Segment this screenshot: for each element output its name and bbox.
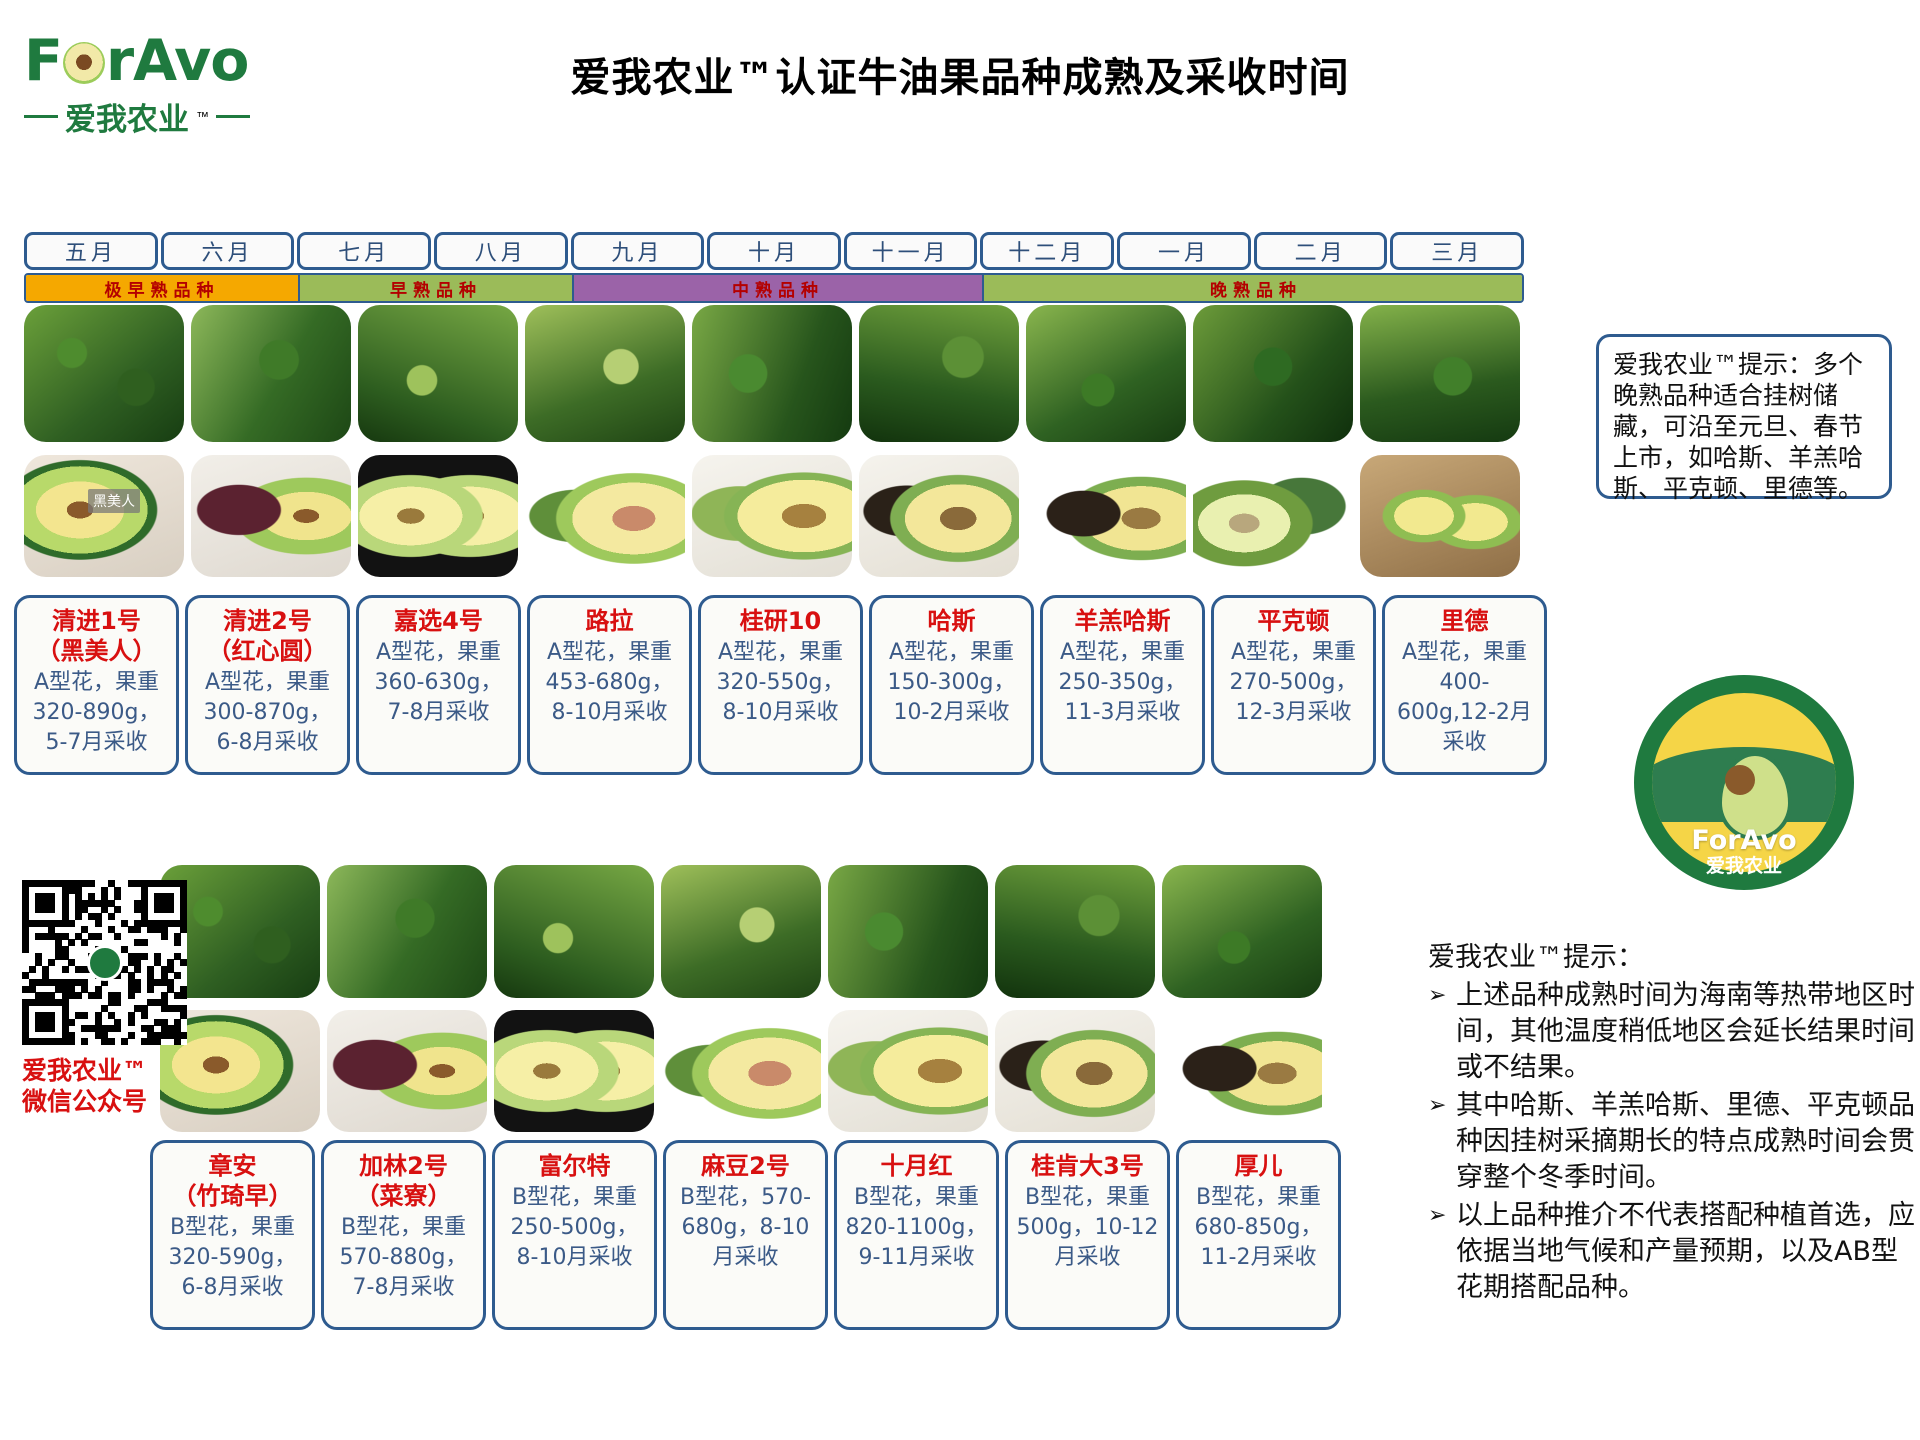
tree-photo-lula xyxy=(525,305,685,442)
tree-photo-hass xyxy=(859,305,1019,442)
qr-caption-line1: 爱我农业™ xyxy=(22,1055,202,1086)
variety-name: 章安 xyxy=(159,1151,306,1181)
variety-name: 富尔特 xyxy=(501,1151,648,1181)
variety-alias: （菜寮） xyxy=(330,1181,477,1211)
variety-card[interactable]: 桂肯大3号B型花，果重500g，10-12月采收 xyxy=(1005,1140,1170,1330)
variety-description: B型花，果重680-850g，11-2月采收 xyxy=(1185,1183,1332,1273)
tree-photo-reed xyxy=(1360,305,1520,442)
qr-code-image xyxy=(22,880,187,1045)
note-text: 上述品种成熟时间为海南等热带地区时间，其他温度稍低地区会延长结果时间或不结果。 xyxy=(1456,978,1920,1086)
variety-card[interactable]: 富尔特B型花，果重250-500g，8-10月采收 xyxy=(492,1140,657,1330)
variety-name: 嘉选4号 xyxy=(365,606,512,636)
variety-card[interactable]: 桂研10A型花，果重320-550g，8-10月采收 xyxy=(698,595,863,775)
variety-name: 路拉 xyxy=(536,606,683,636)
variety-card[interactable]: 厚儿B型花，果重680-850g，11-2月采收 xyxy=(1176,1140,1341,1330)
variety-card[interactable]: 十月红B型花，果重820-1100g，9-11月采收 xyxy=(834,1140,999,1330)
variety-description: A型花，果重300-870g，6-8月采收 xyxy=(194,668,341,758)
variety-name: 清进2号 xyxy=(194,606,341,636)
bullet-arrow-icon: ➢ xyxy=(1428,1198,1450,1306)
badge-cn-text: 爱我农业 xyxy=(1634,851,1854,878)
variety-alias: （竹琦早） xyxy=(159,1181,306,1211)
row2-variety-cards: 章安（竹琦早）B型花，果重320-590g，6-8月采收加林2号（菜寮）B型花，… xyxy=(150,1140,1347,1330)
variety-description: A型花，果重360-630g，7-8月采收 xyxy=(365,638,512,728)
variety-card[interactable]: 加林2号（菜寮）B型花，果重570-880g，7-8月采收 xyxy=(321,1140,486,1330)
fruit-photo-houer xyxy=(1162,1010,1322,1132)
tree-photo-lambhass xyxy=(1026,305,1186,442)
variety-card[interactable]: 里德A型花，果重400-600g,12-2月采收 xyxy=(1382,595,1547,775)
variety-card[interactable]: 平克顿A型花，果重270-500g，12-3月采收 xyxy=(1211,595,1376,775)
fruit-photo-reed xyxy=(1360,455,1520,577)
month-cell-8: 十二月 xyxy=(980,232,1114,270)
season-band-1: 极早熟品种 xyxy=(26,275,300,301)
photo-caption: 黑美人 xyxy=(88,489,140,513)
foravo-round-badge: ForAvo 爱我农业 xyxy=(1634,675,1854,890)
variety-name: 平克顿 xyxy=(1220,606,1367,636)
variety-description: A型花，果重270-500g，12-3月采收 xyxy=(1220,638,1367,728)
fruit-photo-hass xyxy=(859,455,1019,577)
variety-description: A型花，果重453-680g，8-10月采收 xyxy=(536,638,683,728)
variety-alias: （黑美人） xyxy=(23,636,170,666)
variety-name: 厚儿 xyxy=(1185,1151,1332,1181)
fruit-photo-shiyuehong xyxy=(828,1010,988,1132)
wechat-qr-block: 爱我农业™ 微信公众号 xyxy=(22,880,202,1117)
season-band-row: 极早熟品种早熟品种中熟品种晚熟品种 xyxy=(24,273,1524,303)
qr-caption-line2: 微信公众号 xyxy=(22,1086,202,1117)
tree-photo-pinkerton xyxy=(1193,305,1353,442)
row2-tree-photo-strip xyxy=(160,865,1329,998)
variety-name: 羊羔哈斯 xyxy=(1049,606,1196,636)
variety-card[interactable]: 羊羔哈斯A型花，果重250-350g，11-3月采收 xyxy=(1040,595,1205,775)
row1-tree-photo-strip xyxy=(24,305,1527,442)
variety-alias: （红心圆） xyxy=(194,636,341,666)
variety-card[interactable]: 嘉选4号A型花，果重360-630g，7-8月采收 xyxy=(356,595,521,775)
month-cell-9: 一月 xyxy=(1117,232,1251,270)
variety-name: 哈斯 xyxy=(878,606,1025,636)
month-cell-1: 五月 xyxy=(24,232,158,270)
variety-description: A型花，果重150-300g，10-2月采收 xyxy=(878,638,1025,728)
fruit-photo-guikenda3 xyxy=(995,1010,1155,1132)
month-cell-3: 七月 xyxy=(297,232,431,270)
bullet-arrow-icon: ➢ xyxy=(1428,978,1450,1086)
variety-description: A型花，果重250-350g，11-3月采收 xyxy=(1049,638,1196,728)
note-item: ➢上述品种成熟时间为海南等热带地区时间，其他温度稍低地区会延长结果时间或不结果。 xyxy=(1428,978,1920,1086)
variety-card[interactable]: 清进1号（黑美人）A型花，果重320-890g，5-7月采收 xyxy=(14,595,179,775)
variety-name: 桂肯大3号 xyxy=(1014,1151,1161,1181)
season-band-2: 早熟品种 xyxy=(300,275,574,301)
month-header-row: 五月六月七月八月九月十月十一月十二月一月二月三月 xyxy=(24,232,1524,270)
tree-photo-jiaxuan4 xyxy=(358,305,518,442)
note-item: ➢其中哈斯、羊羔哈斯、里德、平克顿品种因挂树采摘期长的特点成熟时间会贯穿整个冬季… xyxy=(1428,1088,1920,1196)
badge-seed-icon xyxy=(1725,765,1755,795)
month-cell-11: 三月 xyxy=(1390,232,1524,270)
variety-card[interactable]: 章安（竹琦早）B型花，果重320-590g，6-8月采收 xyxy=(150,1140,315,1330)
tree-photo-shiyuehong xyxy=(828,865,988,998)
variety-card[interactable]: 哈斯A型花，果重150-300g，10-2月采收 xyxy=(869,595,1034,775)
variety-description: A型花，果重400-600g,12-2月采收 xyxy=(1391,638,1538,758)
fruit-photo-fuerte xyxy=(494,1010,654,1132)
footer-notes: 爱我农业™提示： ➢上述品种成熟时间为海南等热带地区时间，其他温度稍低地区会延长… xyxy=(1428,940,1920,1308)
page-title: 爱我农业™认证牛油果品种成熟及采收时间 xyxy=(0,45,1920,103)
qr-center-logo xyxy=(87,945,123,981)
note-text: 其中哈斯、羊羔哈斯、里德、平克顿品种因挂树采摘期长的特点成熟时间会贯穿整个冬季时… xyxy=(1456,1088,1920,1196)
harvest-timeline: 五月六月七月八月九月十月十一月十二月一月二月三月 极早熟品种早熟品种中熟品种晚熟… xyxy=(24,232,1524,292)
variety-name: 麻豆2号 xyxy=(672,1151,819,1181)
variety-description: B型花，果重820-1100g，9-11月采收 xyxy=(843,1183,990,1273)
fruit-photo-qingjin2 xyxy=(191,455,351,577)
variety-card[interactable]: 麻豆2号B型花，570-680g，8-10月采收 xyxy=(663,1140,828,1330)
month-cell-4: 八月 xyxy=(434,232,568,270)
variety-name: 清进1号 xyxy=(23,606,170,636)
row1-fruit-photo-strip: 黑美人 xyxy=(24,455,1527,577)
month-cell-5: 九月 xyxy=(571,232,705,270)
variety-card[interactable]: 清进2号（红心圆）A型花，果重300-870g，6-8月采收 xyxy=(185,595,350,775)
fruit-photo-lambhass xyxy=(1026,455,1186,577)
bullet-arrow-icon: ➢ xyxy=(1428,1088,1450,1196)
tree-photo-qingjin1 xyxy=(24,305,184,442)
tip-box-late-varieties: 爱我农业™提示：多个晚熟品种适合挂树储藏，可沿至元旦、春节上市，如哈斯、羊羔哈斯… xyxy=(1596,334,1892,499)
month-cell-6: 十月 xyxy=(707,232,841,270)
row2-fruit-photo-strip xyxy=(160,1010,1329,1132)
variety-name: 桂研10 xyxy=(707,606,854,636)
variety-description: B型花，570-680g，8-10月采收 xyxy=(672,1183,819,1273)
variety-name: 十月红 xyxy=(843,1151,990,1181)
variety-description: B型花，果重570-880g，7-8月采收 xyxy=(330,1213,477,1303)
note-item: ➢以上品种推介不代表搭配种植首选，应依据当地气候和产量预期，以及AB型花期搭配品… xyxy=(1428,1198,1920,1306)
tree-photo-jialin2 xyxy=(327,865,487,998)
logo-rule-right xyxy=(216,115,250,118)
fruit-photo-madou2 xyxy=(661,1010,821,1132)
variety-name: 加林2号 xyxy=(330,1151,477,1181)
note-text: 以上品种推介不代表搭配种植首选，应依据当地气候和产量预期，以及AB型花期搭配品种… xyxy=(1456,1198,1920,1306)
tree-photo-fuerte xyxy=(494,865,654,998)
fruit-photo-pinkerton xyxy=(1193,455,1353,577)
variety-description: A型花，果重320-890g，5-7月采收 xyxy=(23,668,170,758)
fruit-photo-jiaxuan4 xyxy=(358,455,518,577)
fruit-photo-guiyan10 xyxy=(692,455,852,577)
variety-description: B型花，果重320-590g，6-8月采收 xyxy=(159,1213,306,1303)
variety-card[interactable]: 路拉A型花，果重453-680g，8-10月采收 xyxy=(527,595,692,775)
tree-photo-madou2 xyxy=(661,865,821,998)
tree-photo-guikenda3 xyxy=(995,865,1155,998)
logo-rule-left xyxy=(24,115,58,118)
month-cell-10: 二月 xyxy=(1254,232,1388,270)
row1-variety-cards: 清进1号（黑美人）A型花，果重320-890g，5-7月采收清进2号（红心圆）A… xyxy=(14,595,1553,775)
variety-description: B型花，果重500g，10-12月采收 xyxy=(1014,1183,1161,1273)
fruit-photo-jialin2 xyxy=(327,1010,487,1132)
tree-photo-qingjin2 xyxy=(191,305,351,442)
variety-description: A型花，果重320-550g，8-10月采收 xyxy=(707,638,854,728)
notes-heading: 爱我农业™提示： xyxy=(1428,940,1920,976)
tree-photo-houer xyxy=(1162,865,1322,998)
season-band-4: 晚熟品种 xyxy=(984,275,1524,301)
season-band-3: 中熟品种 xyxy=(574,275,984,301)
month-cell-2: 六月 xyxy=(161,232,295,270)
page-header: FrAvo 爱我农业™ 爱我农业™认证牛油果品种成熟及采收时间 xyxy=(0,0,1920,170)
variety-description: B型花，果重250-500g，8-10月采收 xyxy=(501,1183,648,1273)
notes-list: ➢上述品种成熟时间为海南等热带地区时间，其他温度稍低地区会延长结果时间或不结果。… xyxy=(1428,978,1920,1306)
logo-tm: ™ xyxy=(196,109,209,124)
qr-caption: 爱我农业™ 微信公众号 xyxy=(22,1055,202,1117)
fruit-photo-qingjin1: 黑美人 xyxy=(24,455,184,577)
variety-name: 里德 xyxy=(1391,606,1538,636)
tree-photo-guiyan10 xyxy=(692,305,852,442)
fruit-photo-lula xyxy=(525,455,685,577)
month-cell-7: 十一月 xyxy=(844,232,978,270)
